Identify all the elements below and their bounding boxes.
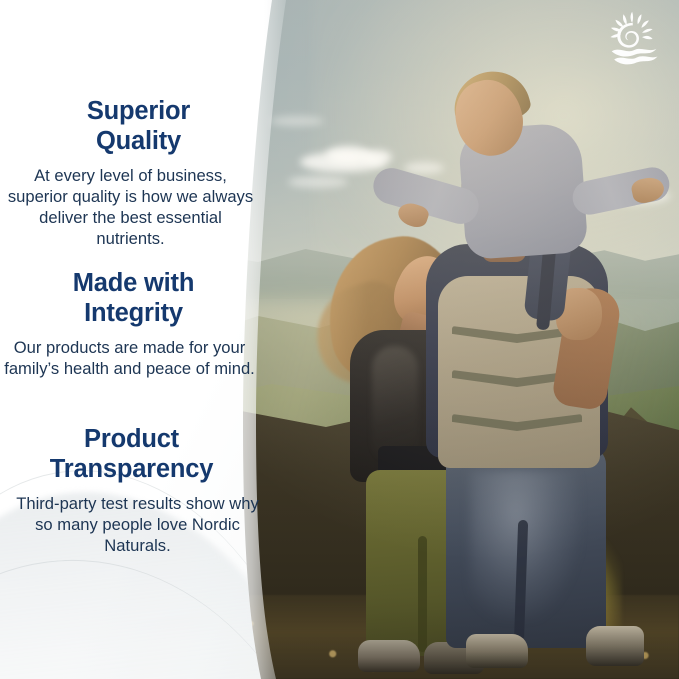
- cloud: [362, 150, 392, 164]
- feature-heading-line-2: Quality: [96, 127, 181, 155]
- sun-wave-logo-icon: [603, 8, 665, 70]
- feature-heading-line-2: Integrity: [84, 299, 183, 327]
- feature-body: At every level of business, superior qua…: [0, 165, 263, 249]
- feature-heading-line-1: Superior: [87, 97, 190, 125]
- woman-pants-seam: [418, 536, 427, 652]
- feature-made-with-integrity: Made withIntegrity Our products are made…: [0, 268, 263, 379]
- feature-list: SuperiorQuality At every level of busine…: [0, 0, 263, 679]
- woman-shoe-left: [358, 640, 420, 672]
- feature-product-transparency: ProductTransparency Third-party test res…: [0, 424, 263, 556]
- feature-body: Our products are made for your family’s …: [0, 337, 263, 379]
- feature-superior-quality: SuperiorQuality At every level of busine…: [0, 96, 263, 249]
- feature-body: Third-party test results show why so man…: [0, 493, 263, 556]
- feature-heading: Made withIntegrity: [0, 268, 263, 328]
- feature-heading-line-1: Product: [84, 425, 179, 453]
- promo-banner: SuperiorQuality At every level of busine…: [0, 0, 679, 679]
- feature-heading: ProductTransparency: [0, 424, 263, 484]
- cloud: [288, 176, 348, 188]
- man-shoe-right: [586, 626, 644, 666]
- cloud: [270, 116, 324, 126]
- feature-heading-line-1: Made with: [73, 269, 194, 297]
- feature-heading: SuperiorQuality: [0, 96, 263, 156]
- man-shoe-left: [466, 634, 528, 668]
- feature-heading-line-2: Transparency: [50, 455, 213, 483]
